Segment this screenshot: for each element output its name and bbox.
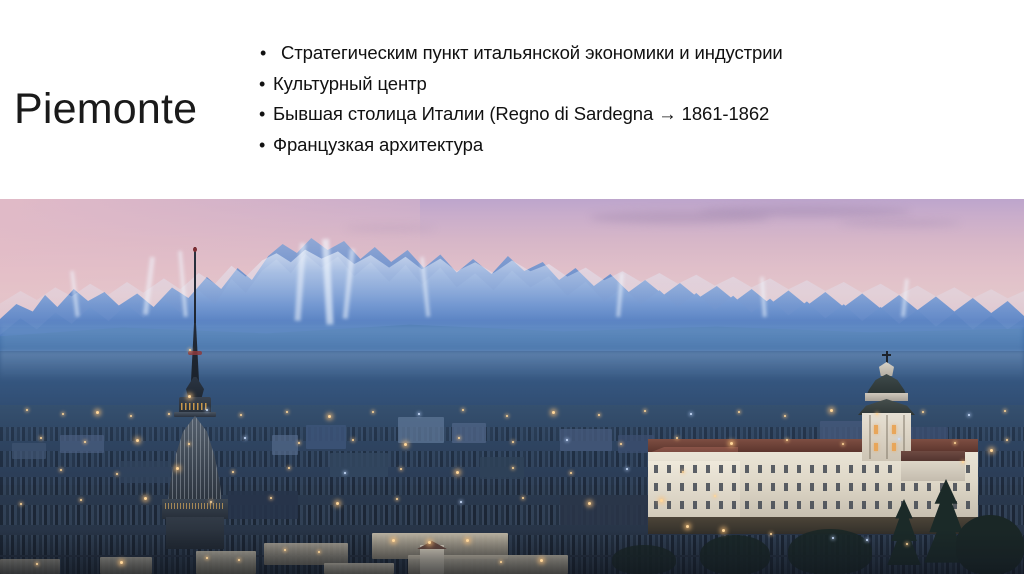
church-lantern	[879, 362, 894, 376]
list-item-label: Французкая архитектура	[273, 134, 483, 155]
mole-antonelliana	[160, 247, 232, 547]
list-item: • Культурный центр	[259, 69, 1014, 100]
slide-header: Piemonte • Стратегическим пункт итальянс…	[0, 0, 1024, 199]
list-item: • Французкая архитектура	[259, 130, 1014, 161]
bottom-vignette	[0, 529, 1024, 574]
bullet-list: • Стратегическим пункт итальянской эконо…	[259, 38, 1014, 160]
list-item-label: Культурный центр	[273, 73, 427, 94]
cross-icon	[886, 351, 888, 363]
slide-photo	[0, 199, 1024, 574]
church-window	[874, 443, 878, 451]
city-building	[560, 495, 650, 525]
spire-needle	[194, 247, 196, 325]
spire-colonnade	[179, 397, 211, 413]
list-item-label: Стратегическим пункт итальянской экономи…	[281, 42, 783, 63]
church-pilaster	[886, 415, 888, 459]
bullet-icon: •	[259, 130, 265, 161]
bullet-icon: •	[259, 99, 265, 130]
city-building	[12, 443, 46, 459]
list-item: • Стратегическим пункт итальянской эконо…	[259, 38, 1014, 69]
church-cupola	[867, 374, 906, 394]
list-item-label: Бывшая столица Италии (Regno di Sardegna…	[273, 103, 769, 124]
city-building	[60, 435, 104, 453]
page-title: Piemonte	[14, 83, 254, 135]
list-item: • Бывшая столица Италии (Regno di Sardeg…	[259, 99, 1014, 130]
city-building	[560, 429, 612, 451]
city-building	[330, 453, 388, 477]
bullet-icon: •	[259, 69, 265, 100]
cloud	[840, 219, 960, 227]
church-window	[892, 443, 896, 451]
bullet-icon: •	[260, 38, 266, 69]
window-row	[654, 501, 972, 509]
slide-canvas: Piemonte • Стратегическим пункт итальянс…	[0, 0, 1024, 574]
dome-base	[162, 499, 228, 519]
spire-tip-light	[193, 247, 197, 252]
city-building	[272, 435, 298, 455]
church-window	[892, 425, 896, 434]
city-building	[228, 491, 298, 519]
cloud	[345, 225, 435, 232]
cappuccini-church	[845, 351, 965, 481]
spire-ring-light	[188, 351, 202, 355]
church-pilaster	[869, 415, 871, 459]
city-building	[306, 425, 346, 449]
dome-ribs	[168, 416, 222, 502]
church-wing	[901, 461, 965, 481]
city-building	[452, 423, 486, 443]
cross-icon	[882, 354, 891, 356]
city-building	[480, 457, 524, 479]
church-window	[874, 425, 878, 434]
cloud	[700, 206, 910, 217]
city-building	[398, 417, 444, 443]
spire-lantern	[186, 377, 204, 399]
window-row	[654, 483, 972, 491]
